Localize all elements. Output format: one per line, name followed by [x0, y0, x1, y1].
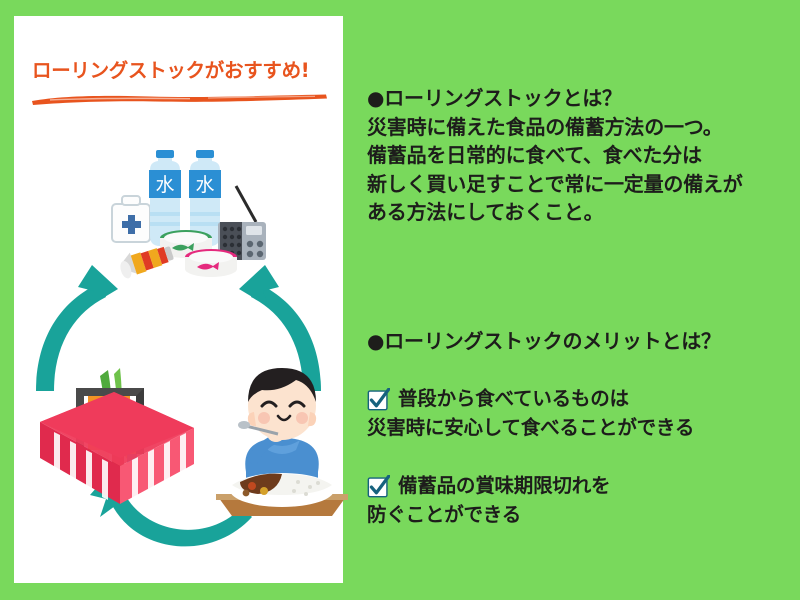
section1-heading: ●ローリングストックとは？	[367, 84, 743, 113]
left-white-card: ローリングストックがおすすめ! 水	[14, 16, 343, 583]
section-what-is-rolling-stock: ●ローリングストックとは？ 災害時に備えた食品の備蓄方法の一つ。 備蓄品を日常的…	[367, 84, 743, 227]
section2-heading: ●ローリングストックのメリットとは？	[367, 327, 721, 356]
card-title: ローリングストックがおすすめ!	[32, 54, 332, 83]
merit-1-line-2: 災害時に安心して食べることができる	[367, 414, 694, 443]
svg-text:水: 水	[155, 174, 174, 196]
section1-line-4: ある方法にしておくこと。	[367, 198, 743, 227]
checked-checkbox-icon[interactable]	[367, 475, 390, 498]
section1-line-3: 新しく買い足すことで常に一定量の備えが	[367, 170, 743, 199]
slide-root: ローリングストックがおすすめ! 水	[0, 0, 800, 600]
section1-line-1: 災害時に備えた食品の備蓄方法の一つ。	[367, 113, 743, 142]
merit-item-2: 備蓄品の賞味期限切れを 防ぐことができる	[367, 472, 610, 529]
shopping-basket-illustration	[28, 354, 203, 519]
merit-2-line-1: 備蓄品の賞味期限切れを	[398, 472, 610, 501]
orange-brush-underline-icon	[30, 93, 328, 106]
svg-text:水: 水	[195, 174, 214, 196]
person-eating-illustration	[202, 354, 362, 519]
basket-body-icon	[40, 392, 194, 504]
merit-item-1: 普段から食べているものは 災害時に安心して食べることができる	[367, 385, 694, 442]
section-merits-heading-block: ●ローリングストックのメリットとは？	[367, 327, 721, 356]
curry-rice-icon	[216, 473, 348, 516]
merit-1-line-1: 普段から食べているものは	[398, 385, 694, 414]
right-text-panel: ●ローリングストックとは？ 災害時に備えた食品の備蓄方法の一つ。 備蓄品を日常的…	[360, 0, 800, 600]
section1-line-2: 備蓄品を日常的に食べて、食べた分は	[367, 141, 743, 170]
merit-2-line-2: 防ぐことができる	[367, 501, 610, 530]
boy-icon	[238, 368, 319, 488]
checked-checkbox-icon[interactable]	[367, 388, 390, 411]
